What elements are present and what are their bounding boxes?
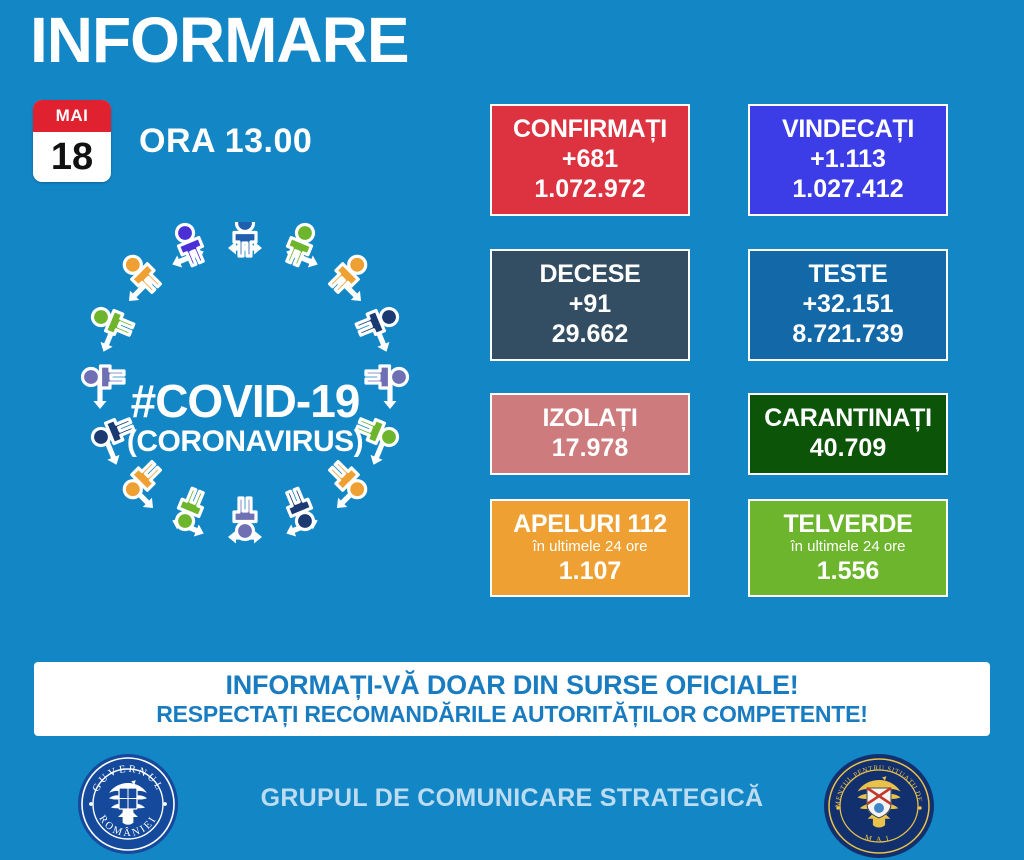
stat-total: 8.721.739 (792, 319, 903, 350)
stats-row-4: APELURI 112 în ultimele 24 ore 1.107 TEL… (490, 499, 962, 597)
stat-title: APELURI 112 (513, 510, 667, 539)
stat-box-teste: TESTE +32.151 8.721.739 (748, 249, 948, 361)
official-sources-notice: INFORMAȚI-VĂ DOAR DIN SURSE OFICIALE! RE… (34, 662, 990, 736)
stat-title: TELVERDE (783, 510, 912, 539)
stat-box-vindecati: VINDECAȚI +1.113 1.027.412 (748, 104, 948, 216)
stat-total: 40.709 (810, 433, 886, 464)
stat-delta: +32.151 (802, 289, 893, 320)
notice-line-1: INFORMAȚI-VĂ DOAR DIN SURSE OFICIALE! (225, 670, 798, 702)
page-title: INFORMARE (30, 8, 409, 72)
calendar-icon: MAI 18 (33, 100, 111, 182)
stat-title: DECESE (539, 260, 640, 289)
stat-title: IZOLAȚI (542, 404, 637, 433)
stat-total: 1.027.412 (792, 174, 903, 205)
stat-box-carantinati: CARANTINAȚI 40.709 (748, 393, 948, 475)
stats-row-2: DECESE +91 29.662 TESTE +32.151 8.721.73… (490, 249, 962, 361)
stat-total: 29.662 (552, 319, 628, 350)
stat-box-apeluri112: APELURI 112 în ultimele 24 ore 1.107 (490, 499, 690, 597)
people-distancing-circle-icon: #COVID-19 (CORONAVIRUS) (30, 222, 460, 632)
stat-delta: +681 (562, 144, 618, 175)
calendar-day: 18 (33, 132, 111, 182)
stat-delta: +1.113 (810, 144, 886, 175)
stat-total: 1.556 (817, 556, 880, 587)
date-time-row: MAI 18 ORA 13.00 (33, 100, 312, 182)
stat-box-telverde: TELVERDE în ultimele 24 ore 1.556 (748, 499, 948, 597)
stat-total: 1.072.972 (534, 174, 645, 205)
dsu-mai-seal-icon: DEPARTAMENTUL PENTRU SITUAȚII DE URGENȚĂ… (822, 752, 936, 860)
stats-row-3: IZOLAȚI 17.978 CARANTINAȚI 40.709 (490, 393, 962, 475)
footer: GUVERNUL ROMÂNIEI GRUPUL DE COMUNICARE S… (0, 748, 1024, 860)
stats-row-1: CONFIRMAȚI +681 1.072.972 VINDECAȚI +1.1… (490, 104, 962, 216)
stat-subtitle: în ultimele 24 ore (790, 538, 905, 556)
stat-delta: +91 (569, 289, 611, 320)
calendar-month: MAI (33, 100, 111, 132)
stat-title: TESTE (808, 260, 887, 289)
stat-total: 17.978 (552, 433, 628, 464)
stat-box-izolati: IZOLAȚI 17.978 (490, 393, 690, 475)
stat-title: VINDECAȚI (782, 115, 914, 144)
stat-box-decese: DECESE +91 29.662 (490, 249, 690, 361)
stat-total: 1.107 (559, 556, 622, 587)
stat-title: CARANTINAȚI (764, 404, 932, 433)
stat-title: CONFIRMAȚI (513, 115, 667, 144)
notice-line-2: RESPECTAȚI RECOMANDĂRILE AUTORITĂȚILOR C… (156, 701, 868, 728)
stat-subtitle: în ultimele 24 ore (532, 538, 647, 556)
statistics-grid: CONFIRMAȚI +681 1.072.972 VINDECAȚI +1.1… (490, 104, 962, 597)
time-label: ORA 13.00 (139, 122, 312, 161)
stat-box-confirmati: CONFIRMAȚI +681 1.072.972 (490, 104, 690, 216)
